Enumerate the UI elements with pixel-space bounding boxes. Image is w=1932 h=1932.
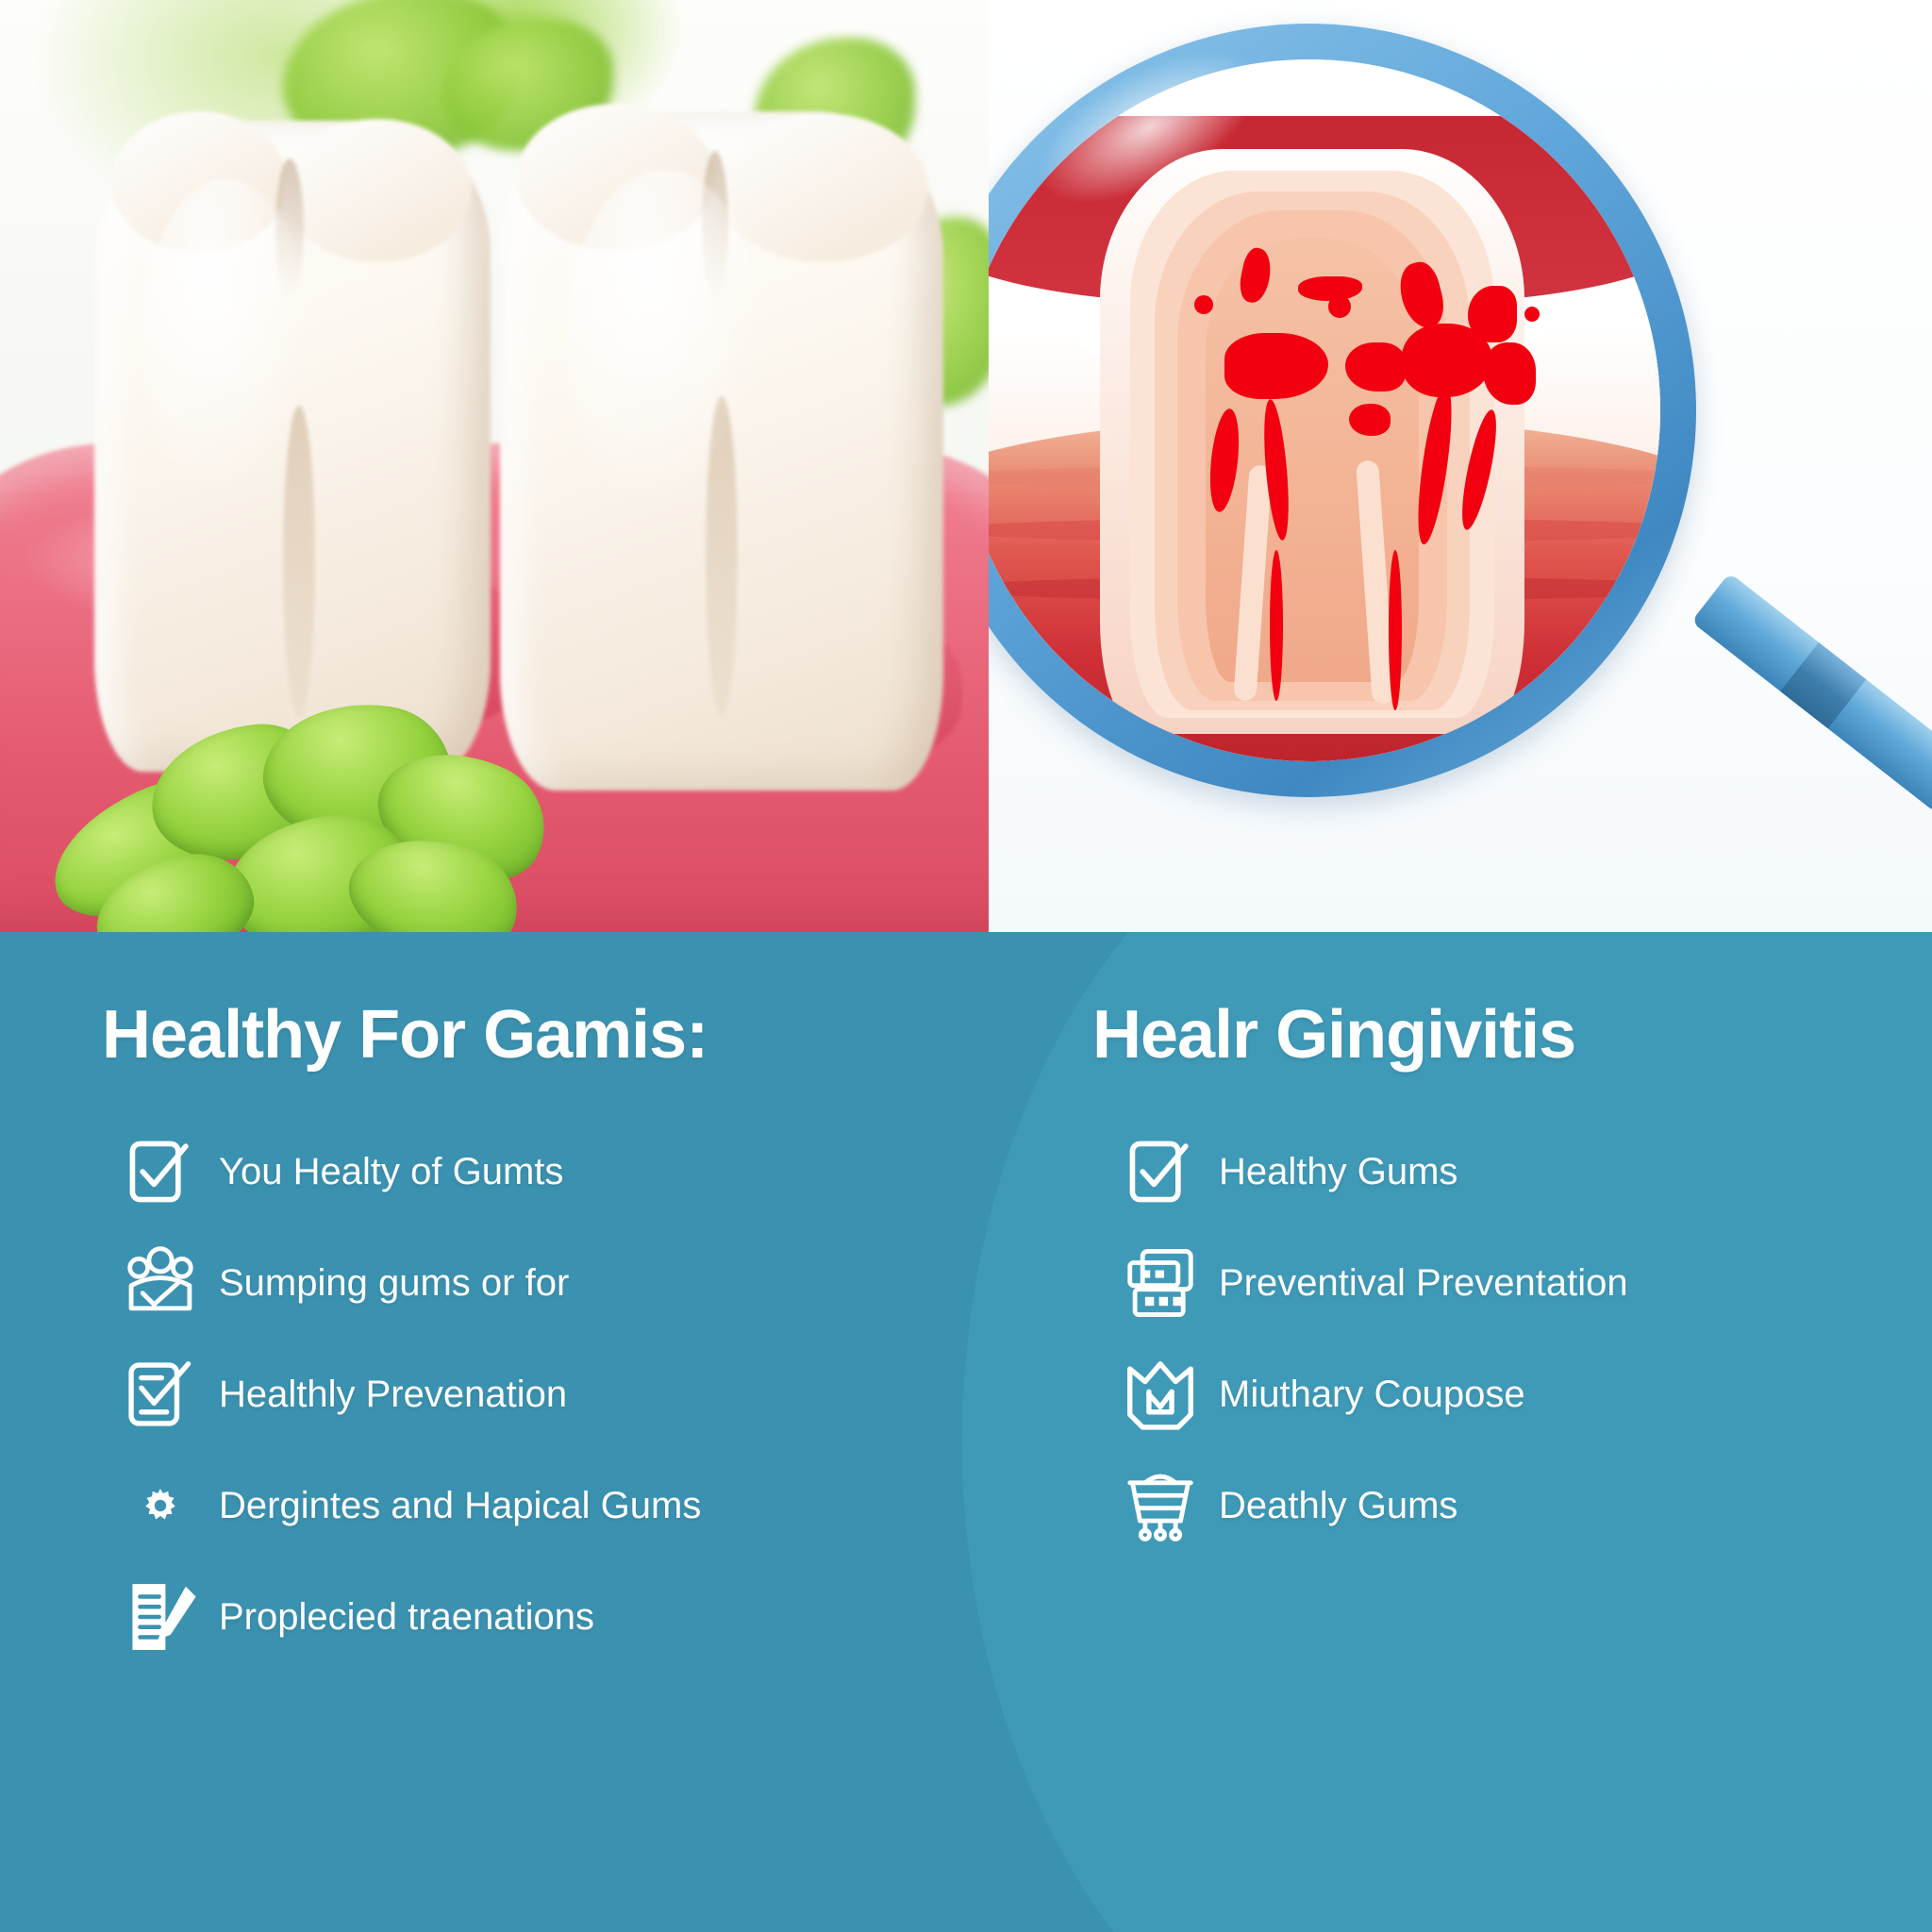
parsley-sprig: [9, 689, 613, 932]
infographic-canvas: Healthy For Gamis: You Healty of Gumts: [0, 0, 1932, 1932]
list-item-label: Dergintes and Hapical Gums: [219, 1485, 701, 1526]
tooth-cusp: [283, 119, 472, 262]
list-item[interactable]: Deathly Gums: [1102, 1450, 1932, 1561]
list-item-label: Healthly Prevenation: [219, 1374, 567, 1415]
list-item[interactable]: Proplecied traenations: [102, 1561, 932, 1673]
list-item[interactable]: Healthly Prevenation: [102, 1339, 932, 1450]
list-item-label: Deathly Gums: [1219, 1485, 1457, 1526]
inflammation-mark: [1270, 550, 1283, 701]
people-check-icon: [102, 1236, 219, 1330]
inflammation-mark: [1328, 295, 1351, 318]
inflammation-mark: [1194, 295, 1213, 314]
crown-check-icon: [1102, 1347, 1219, 1441]
inflammation-mark: [1389, 550, 1402, 710]
tooth-root-split: [283, 406, 315, 717]
healthy-teeth-photo: [0, 0, 989, 932]
clipboard-check-icon: [102, 1124, 219, 1219]
list-item-label: Healthy Gums: [1219, 1151, 1457, 1192]
tooth-highlight: [142, 179, 311, 500]
list-item[interactable]: Sumping gums or for: [102, 1227, 932, 1339]
magnifier-handle-band: [1780, 642, 1866, 728]
list-item[interactable]: Healthy Gums: [1102, 1116, 1932, 1227]
left-column-list: You Healty of Gumts Sump: [102, 1116, 932, 1673]
list-item-label: Proplecied traenations: [219, 1596, 594, 1638]
tooth-highlight: [566, 170, 764, 509]
list-item-label: You Healty of Gumts: [219, 1151, 563, 1192]
inflammation-mark: [1345, 342, 1406, 391]
gingivitis-magnifier-illustration: [989, 0, 1932, 932]
magnifier-ring: [989, 24, 1696, 797]
list-item-label: Preventival Preventation: [1219, 1262, 1628, 1304]
list-item-label: Miuthary Coupose: [1219, 1374, 1525, 1415]
content-panel: Healthy For Gamis: You Healty of Gumts: [0, 932, 1932, 1932]
right-column-list: Healthy Gums: [1102, 1116, 1932, 1561]
gear-icon: [102, 1458, 219, 1553]
inflammation-mark: [1349, 404, 1391, 436]
hero-imagery: [0, 0, 1932, 932]
document-pen-icon: [102, 1570, 219, 1664]
checkbox-check-icon: [1102, 1124, 1219, 1219]
tooth-cusp: [717, 113, 928, 262]
list-item[interactable]: Preventival Preventation: [1102, 1227, 1932, 1339]
shopping-cart-icon: [1102, 1458, 1219, 1553]
list-item-label: Sumping gums or for: [219, 1262, 569, 1304]
clipboard-check-pen-icon: [102, 1347, 219, 1441]
list-item[interactable]: Dergintes and Hapical Gums: [102, 1450, 932, 1561]
list-item[interactable]: You Healty of Gumts: [102, 1116, 932, 1227]
magnifier-handle: [1691, 573, 1932, 813]
right-column-title: Healr Gingivitis: [1092, 1001, 1575, 1069]
left-column-title: Healthy For Gamis:: [102, 1001, 708, 1069]
stacked-cards-icon: [1102, 1236, 1219, 1330]
list-item[interactable]: Miuthary Coupose: [1102, 1339, 1932, 1450]
inflammation-mark: [1524, 307, 1540, 322]
